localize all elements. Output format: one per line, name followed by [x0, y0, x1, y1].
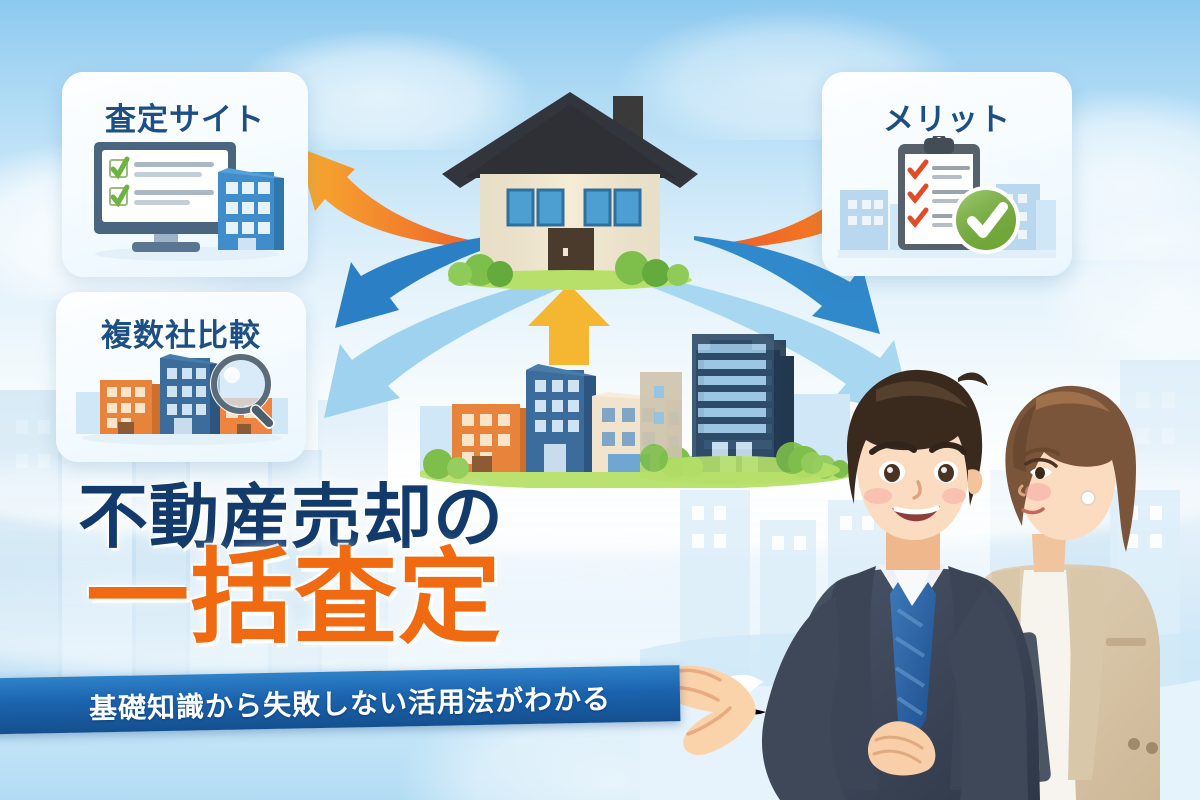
- monitor-with-checklist-icon: [84, 138, 290, 262]
- buildings-with-magnifier-icon: [74, 348, 290, 452]
- house-icon: [430, 78, 710, 293]
- hero-banner: 査定サイト: [0, 0, 1200, 800]
- card-multi-company-compare[interactable]: 複数社比較: [56, 292, 306, 462]
- card-title: メリット: [822, 94, 1072, 139]
- card-title: 査定サイト: [62, 94, 308, 139]
- people-illustration: [640, 320, 1200, 800]
- clipboard-with-check-icon: [836, 136, 1058, 264]
- headline-group: 不動産売却の 一括査定: [78, 482, 678, 649]
- card-assessment-site[interactable]: 査定サイト: [62, 72, 308, 277]
- card-merits[interactable]: メリット: [822, 72, 1072, 276]
- headline-line-2: 一括査定: [86, 546, 678, 649]
- subtitle-banner: 基礎知識から失敗しない活用法がわかる: [0, 665, 680, 735]
- subtitle-text: 基礎知識から失敗しない活用法がわかる: [0, 676, 680, 730]
